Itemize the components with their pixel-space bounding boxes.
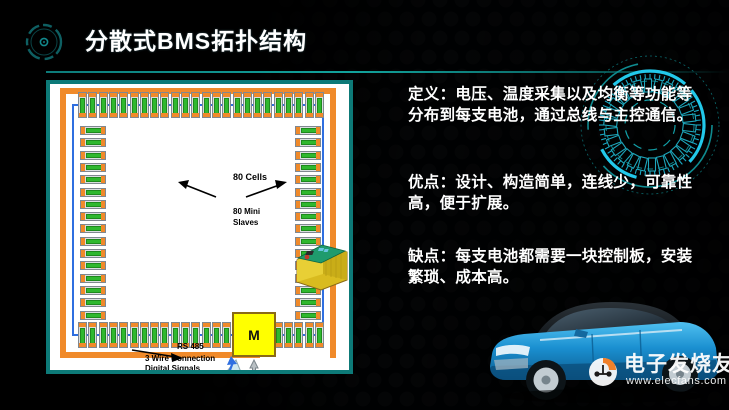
battery-cell-bottom — [305, 322, 314, 348]
battery-cell-top — [253, 92, 262, 118]
battery-cell-bottom — [88, 322, 97, 348]
battery-cell-right — [295, 175, 321, 184]
distributed-bms-topology-diagram: M — [46, 80, 353, 374]
battery-cell-top — [202, 92, 211, 118]
battery-cell-left — [80, 286, 106, 295]
battery-cell-top — [222, 92, 231, 118]
master-controller-box[interactable]: M — [232, 312, 276, 357]
battery-cell-right — [295, 151, 321, 160]
battery-cell-left — [80, 126, 106, 135]
label-80-mini-slaves: 80 Mini Slaves — [233, 206, 260, 228]
battery-cell-top — [171, 92, 180, 118]
elecfans-watermark: 电子发烧友 www.elecfans.com — [586, 350, 726, 394]
battery-cell-right — [295, 212, 321, 221]
watermark-url: www.elecfans.com — [626, 375, 727, 387]
battery-cell-top — [212, 92, 221, 118]
battery-cell-bottom — [160, 322, 169, 348]
battery-cell-top — [78, 92, 87, 118]
comm-bus-right — [322, 104, 324, 336]
elecfans-logo-icon — [585, 352, 621, 393]
battery-cell-left — [80, 200, 106, 209]
battery-cell-bottom — [294, 322, 303, 348]
battery-cell-left — [80, 163, 106, 172]
label-80-cells: 80 Cells — [233, 172, 267, 182]
battery-cell-top — [150, 92, 159, 118]
battery-cell-bottom — [222, 322, 231, 348]
battery-cell-bottom — [130, 322, 139, 348]
battery-cell-left — [80, 175, 106, 184]
battery-cell-top — [191, 92, 200, 118]
label-wire-connection: 3 Wire Connection Digital Signals — [145, 354, 215, 370]
battery-cell-top — [274, 92, 283, 118]
battery-cell-bottom — [140, 322, 149, 348]
battery-cell-left — [80, 249, 106, 258]
label-wire-line1: 3 Wire Connection — [145, 354, 215, 364]
battery-cell-top — [160, 92, 169, 118]
comm-bus-left — [72, 104, 74, 336]
battery-cell-top — [140, 92, 149, 118]
battery-cell-left — [80, 311, 106, 320]
battery-cell-right — [295, 126, 321, 135]
label-rs485: RS 485 — [177, 342, 204, 351]
battery-cell-right — [295, 200, 321, 209]
battery-cell-right — [295, 188, 321, 197]
power-bus-right — [330, 88, 336, 358]
battery-module-illustration — [293, 236, 349, 294]
battery-cell-left — [80, 138, 106, 147]
label-mini-line2: Slaves — [233, 217, 260, 228]
label-mini-line1: 80 Mini — [233, 206, 260, 217]
page-title: 分散式BMS拓扑结构 — [85, 22, 307, 56]
watermark-brand: 电子发烧友 — [624, 348, 729, 378]
battery-cell-left — [80, 188, 106, 197]
battery-cell-left — [80, 151, 106, 160]
battery-cell-top — [109, 92, 118, 118]
battery-cell-bottom — [150, 322, 159, 348]
battery-cell-top — [243, 92, 252, 118]
battery-cell-bottom — [212, 322, 221, 348]
battery-cell-bottom — [109, 322, 118, 348]
battery-cell-bottom — [78, 322, 87, 348]
battery-cell-left — [80, 298, 106, 307]
battery-cell-top — [294, 92, 303, 118]
battery-cell-left — [80, 224, 106, 233]
slide-root: 分散式BMS拓扑结构 — [0, 0, 729, 410]
battery-cell-left — [80, 261, 106, 270]
battery-cell-right — [295, 163, 321, 172]
battery-cell-left — [80, 237, 106, 246]
battery-cell-right — [295, 298, 321, 307]
battery-cell-bottom — [315, 322, 324, 348]
power-bus-left — [60, 88, 66, 358]
battery-cell-top — [305, 92, 314, 118]
cons-text: 缺点：每支电池都需要一块控制板，安装繁琐、成本高。 — [408, 246, 708, 288]
target-ring-icon — [22, 20, 66, 64]
label-wire-line2: Digital Signals — [145, 364, 215, 370]
battery-cell-left — [80, 212, 106, 221]
battery-cell-top — [315, 92, 324, 118]
battery-cell-bottom — [119, 322, 128, 348]
battery-cell-top — [181, 92, 190, 118]
battery-cell-top — [233, 92, 242, 118]
pros-text: 优点：设计、构造简单，连线少，可靠性高，便于扩展。 — [408, 172, 708, 214]
battery-cell-right — [295, 138, 321, 147]
battery-cell-top — [130, 92, 139, 118]
battery-cell-top — [284, 92, 293, 118]
battery-cell-top — [99, 92, 108, 118]
battery-cell-right — [295, 311, 321, 320]
battery-cell-bottom — [99, 322, 108, 348]
battery-cell-top — [119, 92, 128, 118]
battery-cell-left — [80, 274, 106, 283]
battery-cell-right — [295, 224, 321, 233]
battery-cell-top — [263, 92, 272, 118]
battery-cell-bottom — [284, 322, 293, 348]
battery-cell-top — [88, 92, 97, 118]
definition-text: 定义：电压、温度采集以及均衡等功能等分布到每支电池，通过总线与主控通信。 — [408, 84, 708, 126]
